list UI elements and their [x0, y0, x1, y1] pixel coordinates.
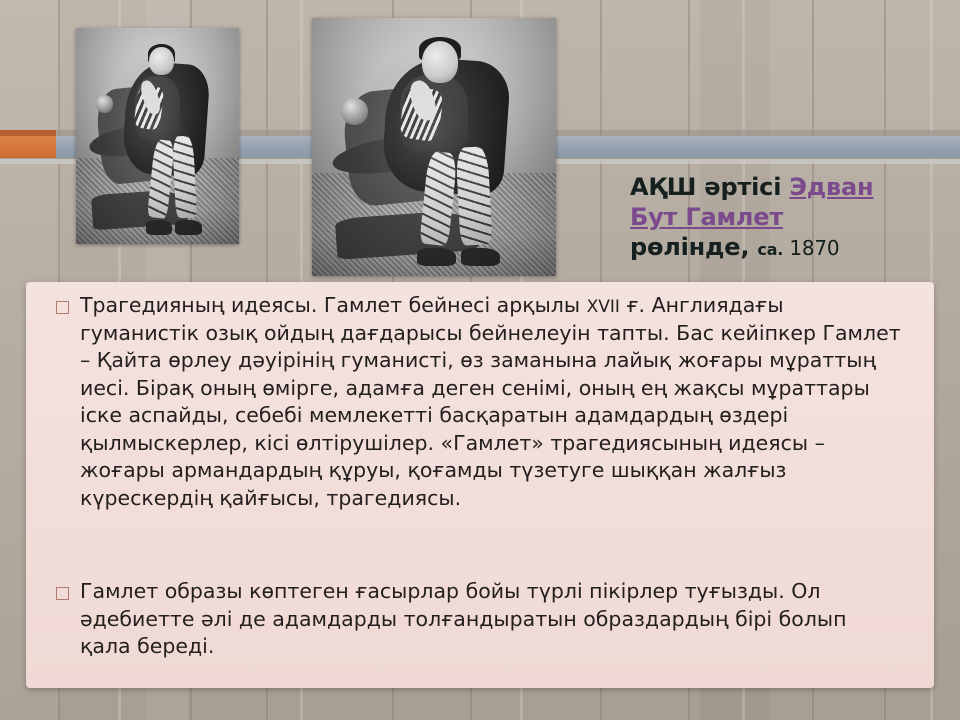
caption-circa: ca. — [757, 240, 783, 259]
bullet-text-1: Трагедияның идеясы. Гамлет бейнесі арқыл… — [80, 292, 902, 513]
photo-vignette — [76, 28, 239, 244]
list-item: Гамлет образы көптеген ғасырлар бойы түр… — [56, 578, 902, 661]
photo-small-canvas — [76, 28, 239, 244]
photo-large-canvas — [312, 18, 556, 276]
bullet-1-roman-numeral: XVII — [587, 297, 620, 317]
bullet-text-2: Гамлет образы көптеген ғасырлар бойы түр… — [80, 578, 902, 661]
photo-vignette — [312, 18, 556, 276]
list-item: Трагедияның идеясы. Гамлет бейнесі арқыл… — [56, 292, 902, 513]
bullet-square-icon — [56, 301, 69, 314]
caption-comma: , — [740, 233, 757, 261]
banner-accent — [0, 136, 56, 158]
bullet-1-before: Трагедияның идеясы. Гамлет бейнесі арқыл… — [80, 293, 587, 317]
caption-year: 1870 — [789, 236, 839, 260]
hamlet-photo-small — [76, 28, 239, 244]
content-panel: Трагедияның идеясы. Гамлет бейнесі арқыл… — [26, 282, 934, 688]
caption-link-booth[interactable]: Бут — [630, 203, 685, 231]
image-caption: АҚШ әртісі Эдван Бут Гамлет рөлінде, ca.… — [630, 172, 950, 263]
bullet-square-icon — [56, 587, 69, 600]
bullet-1-after: ғ. Англиядағы гуманистік озық ойдың дағд… — [80, 293, 901, 510]
caption-link-edwin[interactable]: Эдван — [789, 173, 873, 201]
slide-canvas: АҚШ әртісі Эдван Бут Гамлет рөлінде, ca.… — [0, 0, 960, 720]
hamlet-photo-large — [312, 18, 556, 276]
caption-role: рөлінде — [630, 233, 740, 261]
caption-prefix: АҚШ әртісі — [630, 173, 789, 201]
caption-link-hamlet[interactable]: Гамлет — [685, 203, 783, 231]
